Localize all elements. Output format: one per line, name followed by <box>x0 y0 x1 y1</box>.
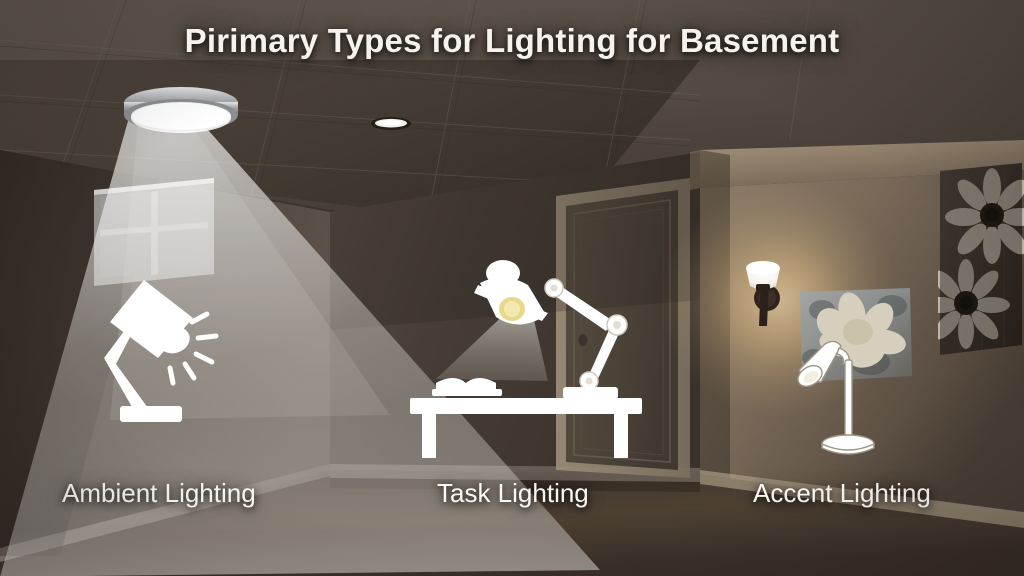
caption-accent-lighting: Accent Lighting <box>753 478 931 509</box>
ambient-desk-lamp-icon <box>88 278 228 428</box>
task-lighting-scene <box>408 255 663 460</box>
flower-canvas-large <box>938 163 1024 355</box>
page-title: Pirimary Types for Lighting for Basement <box>0 22 1024 60</box>
recessed-downlight-icon[interactable] <box>370 116 412 131</box>
basement-window <box>88 178 220 286</box>
caption-ambient-lighting: Ambient Lighting <box>62 478 256 509</box>
flush-mount-ceiling-light-icon[interactable] <box>120 85 242 147</box>
accent-table-lamp-icon <box>795 330 885 460</box>
lighting-infographic: Pirimary Types for Lighting for Basement… <box>0 0 1024 576</box>
caption-task-lighting: Task Lighting <box>437 478 589 509</box>
wall-sconce-icon[interactable] <box>740 248 786 330</box>
